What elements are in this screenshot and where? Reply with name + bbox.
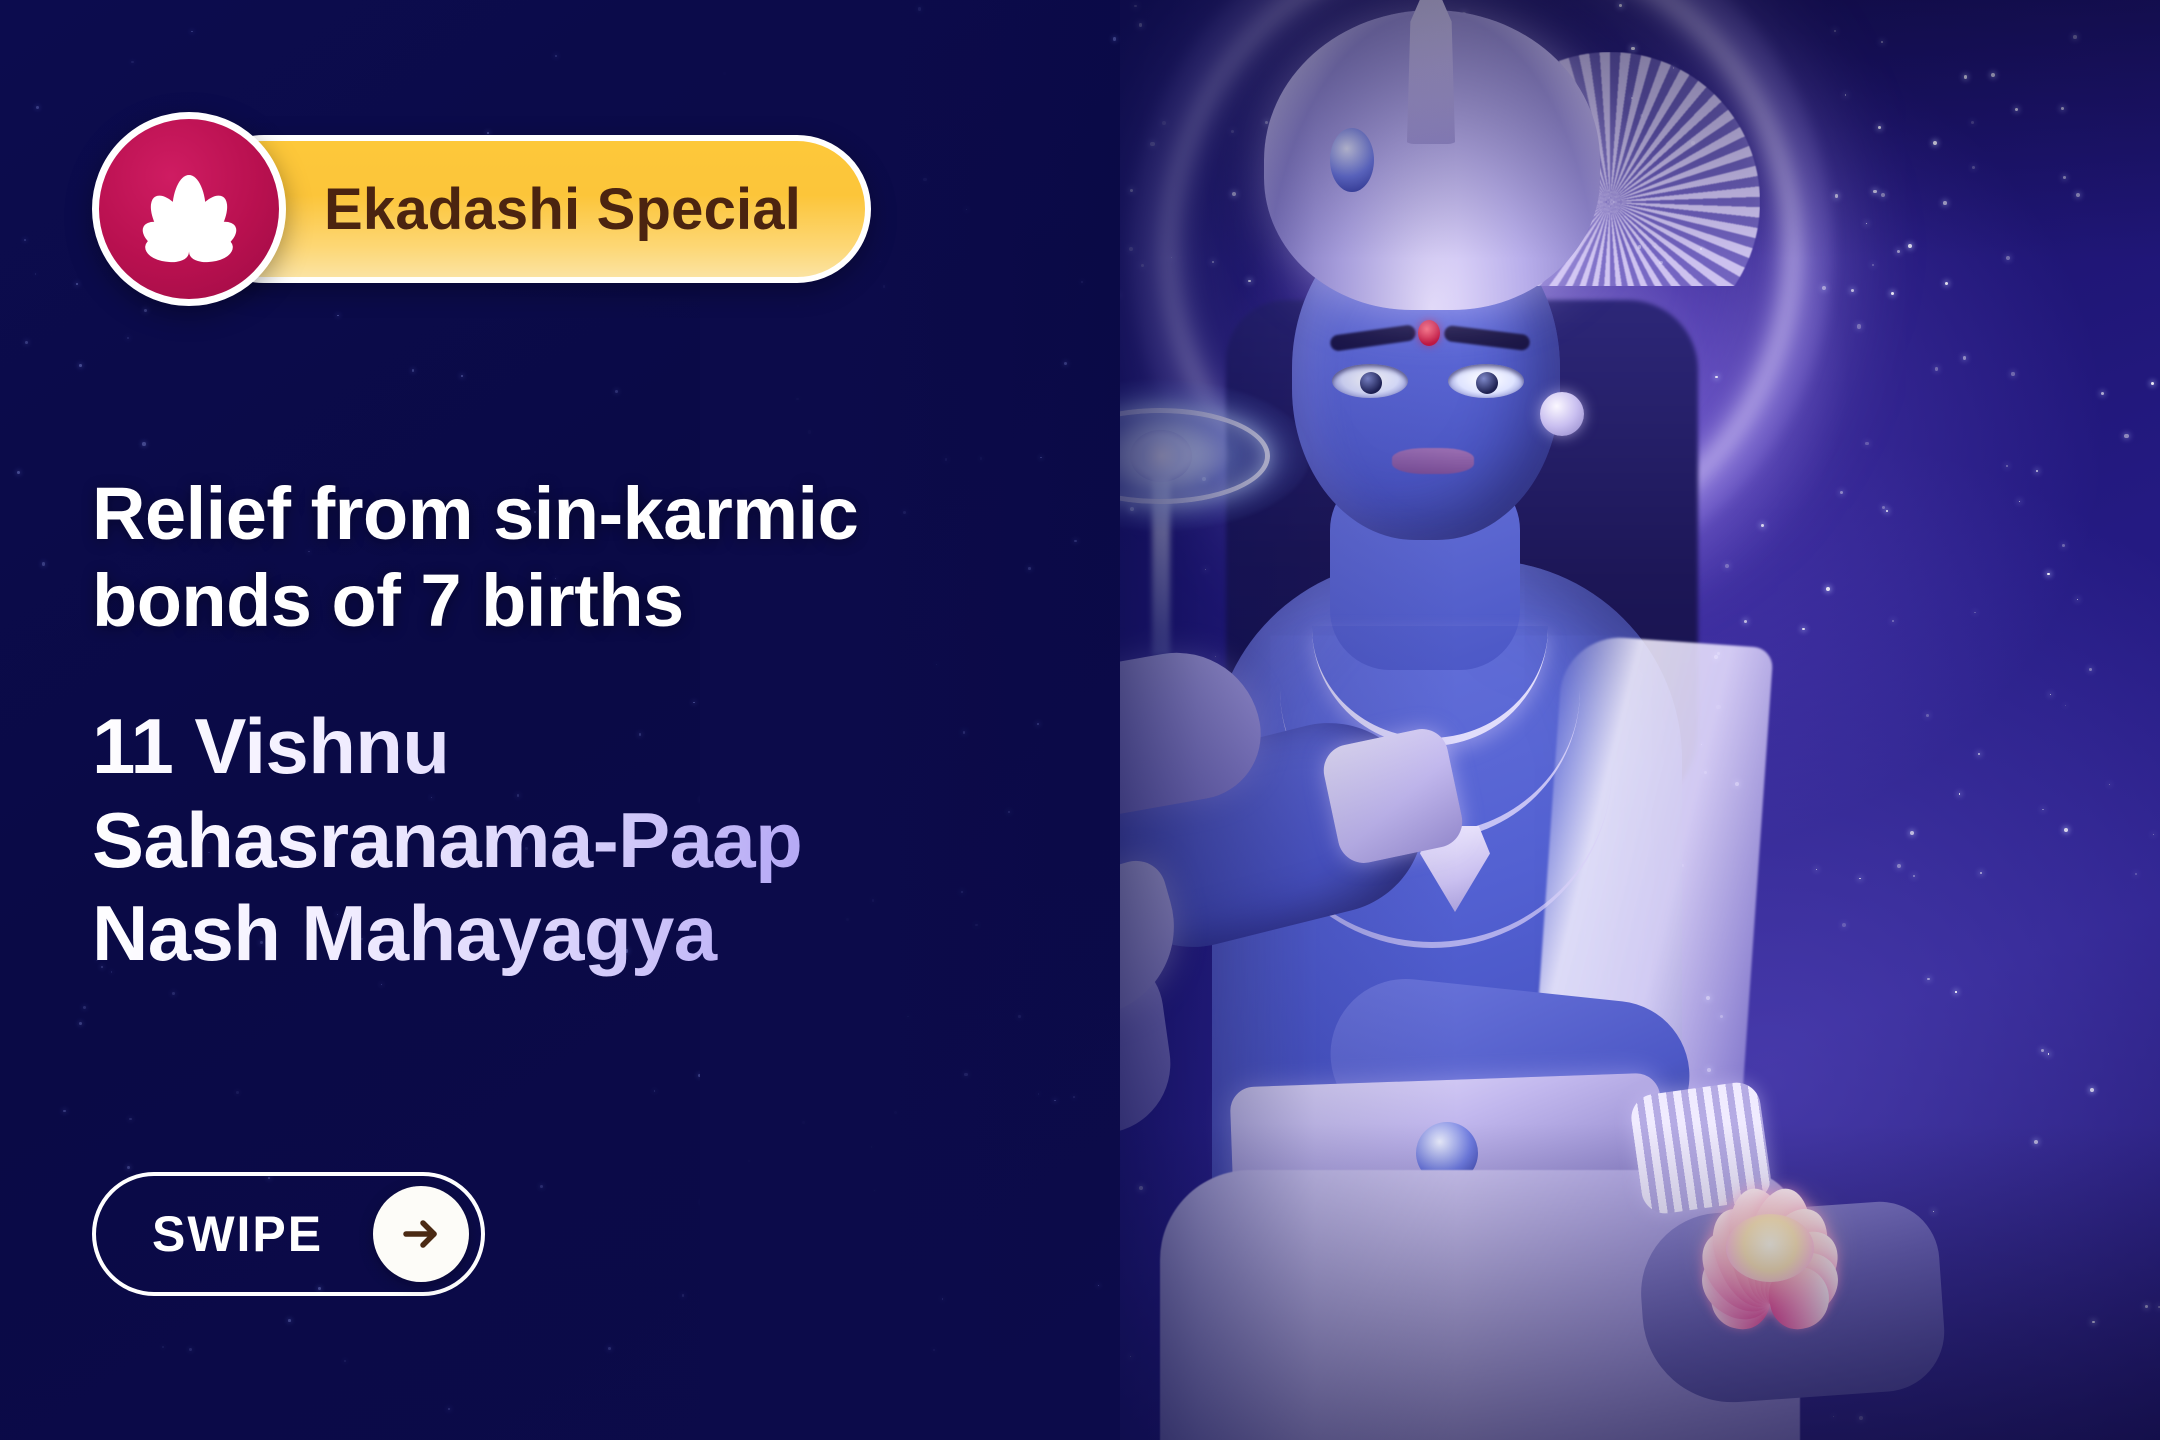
badge-pill[interactable]: Ekadashi Special — [190, 135, 871, 283]
crown-jewel-icon — [1330, 128, 1374, 192]
subtitle-line-1: 11 Vishnu — [92, 700, 1012, 794]
headline-line-2: bonds of 7 births — [92, 557, 992, 644]
swipe-arrow-circle[interactable] — [373, 1186, 469, 1282]
subtitle-line-2: Sahasranama-Paap — [92, 794, 1012, 888]
tilak-icon — [1418, 320, 1440, 346]
headline-line-1: Relief from sin-karmic — [92, 470, 992, 557]
lips — [1392, 448, 1474, 474]
swipe-button[interactable]: SWIPE — [92, 1172, 485, 1296]
arrow-right-icon — [395, 1208, 447, 1260]
promo-card: Ekadashi Special Relief from sin-karmic … — [0, 0, 2160, 1440]
earring-icon — [1540, 392, 1584, 436]
headline: Relief from sin-karmic bonds of 7 births — [92, 470, 992, 645]
subtitle: 11 Vishnu Sahasranama-Paap Nash Mahayagy… — [92, 700, 1012, 981]
subtitle-line-3: Nash Mahayagya — [92, 887, 1012, 981]
pink-lotus-icon — [1620, 1128, 1920, 1318]
lotus-icon — [133, 167, 245, 251]
badge-icon-circle — [92, 112, 286, 306]
eye-right — [1448, 364, 1524, 398]
eye-left — [1332, 364, 1408, 398]
badge-label: Ekadashi Special — [324, 176, 801, 243]
ekadashi-badge[interactable]: Ekadashi Special — [92, 112, 871, 306]
swipe-label: SWIPE — [152, 1205, 323, 1263]
